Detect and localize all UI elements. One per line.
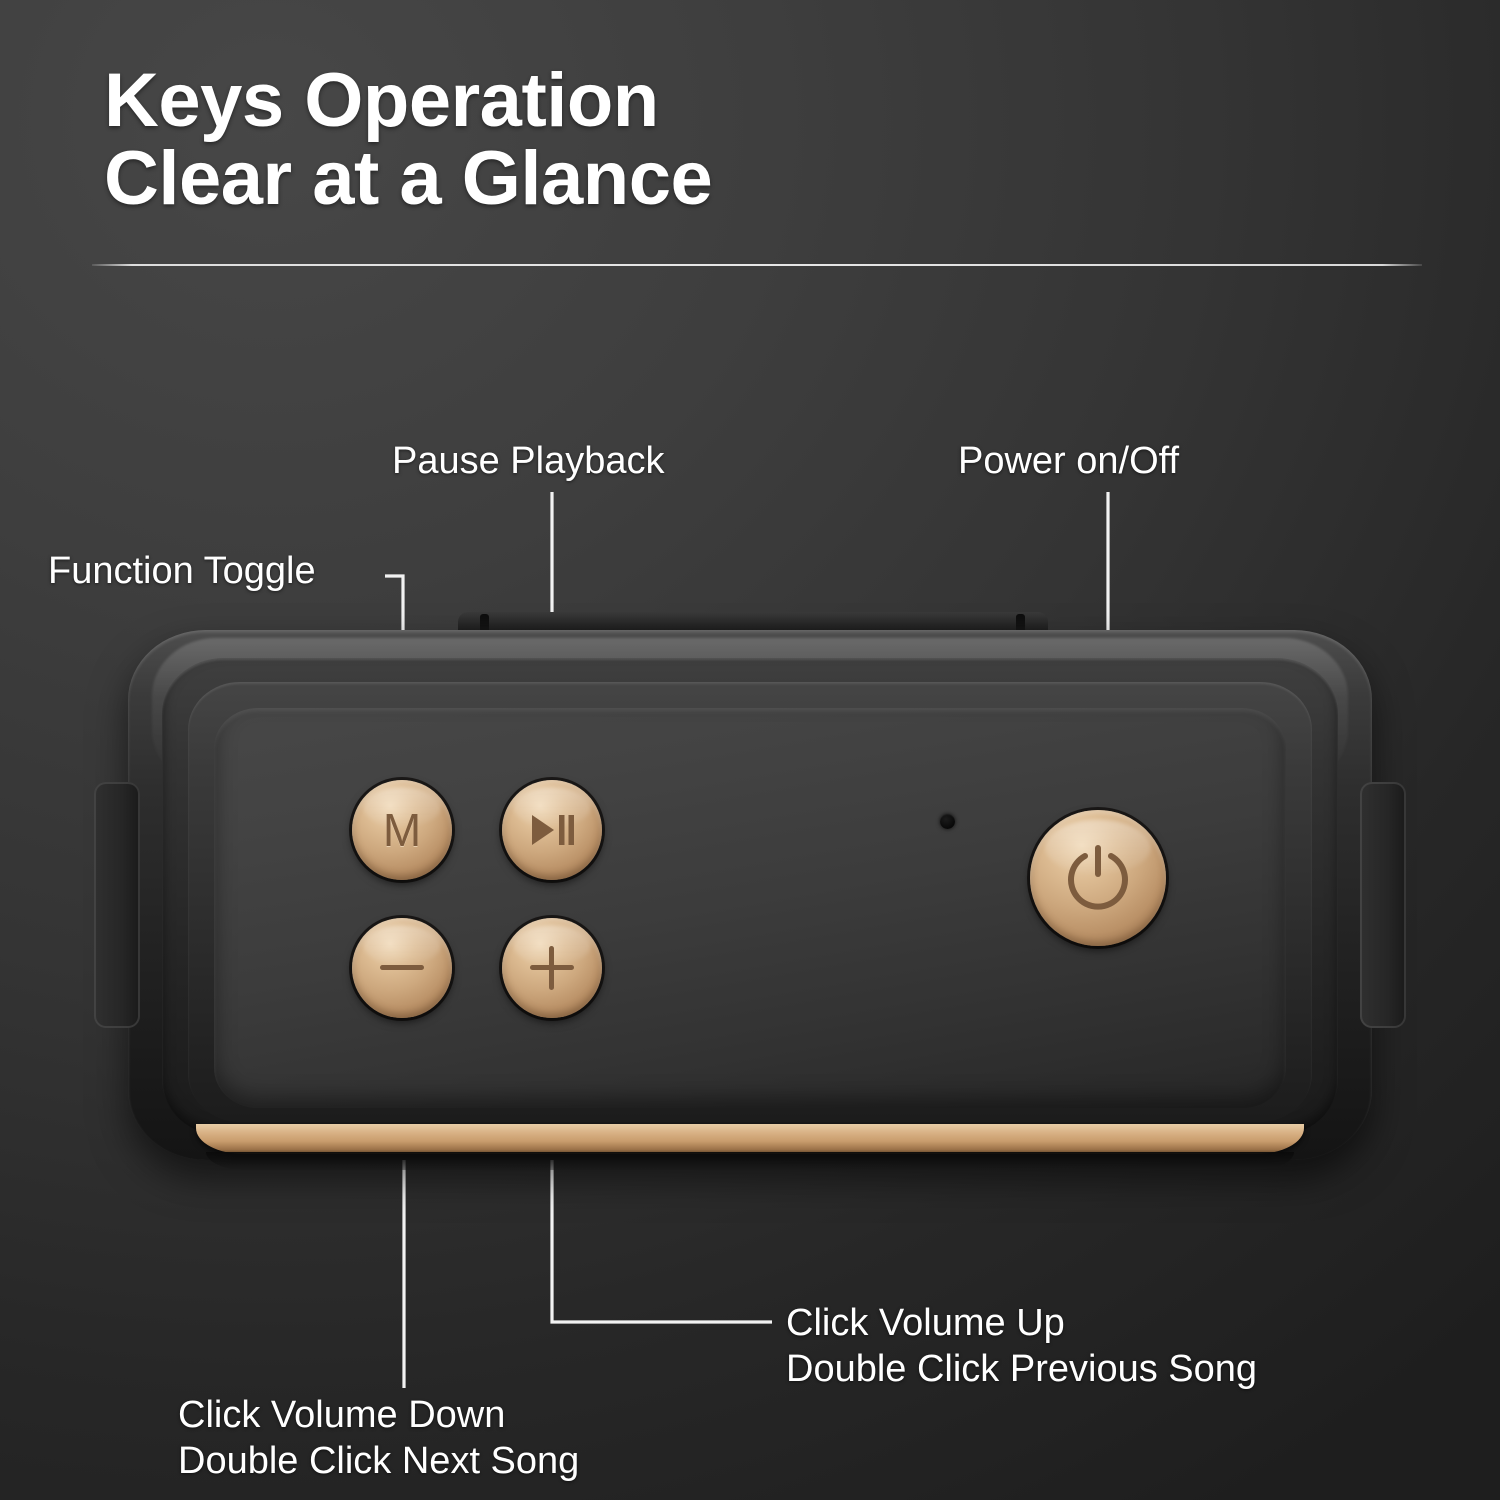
title-divider — [92, 264, 1422, 266]
device-gold-trim-shadow — [206, 1152, 1294, 1170]
callout-volume-up-line-2: Double Click Previous Song — [786, 1346, 1257, 1392]
page-title: Keys Operation Clear at a Glance — [104, 62, 1204, 217]
callout-volume-up-line-1: Click Volume Up — [786, 1300, 1257, 1346]
device-side-tab-right — [1360, 782, 1406, 1028]
callout-power: Power on/Off — [958, 438, 1179, 484]
microphone-hole-icon — [940, 814, 955, 829]
device-side-tab-left — [94, 782, 140, 1028]
play-pause-icon — [529, 813, 575, 847]
callout-volume-down-line-2: Double Click Next Song — [178, 1438, 579, 1484]
power-icon — [1059, 839, 1137, 917]
callout-volume-down-line-1: Click Volume Down — [178, 1392, 579, 1438]
callout-power-line-1: Power on/Off — [958, 438, 1179, 484]
play-pause-button[interactable] — [502, 780, 602, 880]
mode-button[interactable]: M — [352, 780, 452, 880]
power-button[interactable] — [1030, 810, 1166, 946]
mode-m-icon: M — [383, 807, 421, 853]
volume-up-button[interactable] — [502, 918, 602, 1018]
callout-function-toggle-line-1: Function Toggle — [48, 548, 316, 594]
callout-volume-up: Click Volume Up Double Click Previous So… — [786, 1300, 1257, 1393]
callout-pause-playback: Pause Playback — [392, 438, 665, 484]
title-line-2: Clear at a Glance — [104, 140, 1204, 218]
infographic-canvas: Keys Operation Clear at a Glance Functio… — [0, 0, 1500, 1500]
device-gold-trim — [196, 1124, 1304, 1154]
title-line-1: Keys Operation — [104, 62, 1204, 140]
minus-icon — [377, 943, 427, 993]
plus-icon — [527, 943, 577, 993]
callout-function-toggle: Function Toggle — [48, 548, 316, 594]
device-product-image: M — [128, 612, 1372, 1172]
callout-pause-playback-line-1: Pause Playback — [392, 438, 665, 484]
callout-volume-down: Click Volume Down Double Click Next Song — [178, 1392, 579, 1485]
volume-down-button[interactable] — [352, 918, 452, 1018]
